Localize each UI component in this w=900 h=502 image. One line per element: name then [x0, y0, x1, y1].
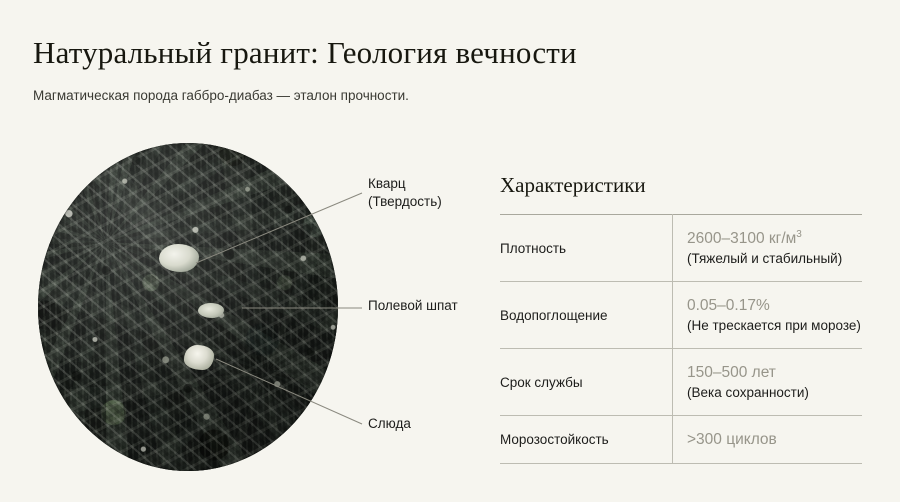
- table-row: Плотность 2600–3100 кг/м3 (Тяжелый и ста…: [500, 215, 862, 282]
- spec-note: (Не трескается при морозе): [687, 316, 862, 335]
- spec-value: 0.05–0.17%: [687, 295, 862, 316]
- table-row: Морозостойкость >300 циклов: [500, 416, 862, 464]
- spec-note: (Века сохранности): [687, 383, 862, 402]
- spec-value-cell: >300 циклов: [673, 416, 863, 464]
- specifications-table: Плотность 2600–3100 кг/м3 (Тяжелый и ста…: [500, 214, 862, 464]
- callout-quartz-sublabel: (Твердость): [368, 193, 442, 211]
- spec-key: Срок службы: [500, 349, 673, 416]
- callout-quartz-label: Кварц: [368, 176, 406, 191]
- infographic-page: Натуральный гранит: Геология вечности Ма…: [0, 0, 900, 502]
- mineral-mica-inclusion: [184, 345, 214, 370]
- spec-value: 2600–3100 кг/м3: [687, 228, 862, 249]
- page-subtitle: Магматическая порода габбро-диабаз — эта…: [33, 72, 733, 105]
- spec-value-cell: 2600–3100 кг/м3 (Тяжелый и стабильный): [673, 215, 863, 282]
- mineral-quartz-inclusion: [159, 244, 199, 272]
- spec-key: Морозостойкость: [500, 416, 673, 464]
- specifications-panel: Характеристики Плотность 2600–3100 кг/м3…: [500, 172, 862, 464]
- callout-feldspar: Полевой шпат: [368, 297, 458, 315]
- spec-value: 150–500 лет: [687, 362, 862, 383]
- granite-disc-image: [38, 143, 338, 471]
- specifications-heading: Характеристики: [500, 172, 862, 198]
- spec-value-cell: 0.05–0.17% (Не трескается при морозе): [673, 282, 863, 349]
- spec-key: Водопоглощение: [500, 282, 673, 349]
- table-row: Водопоглощение 0.05–0.17% (Не трескается…: [500, 282, 862, 349]
- spec-key: Плотность: [500, 215, 673, 282]
- callout-quartz: Кварц (Твердость): [368, 175, 442, 211]
- callout-feldspar-label: Полевой шпат: [368, 298, 458, 313]
- header: Натуральный гранит: Геология вечности Ма…: [33, 34, 733, 105]
- spec-value: >300 циклов: [687, 429, 862, 450]
- spec-note: (Тяжелый и стабильный): [687, 249, 862, 268]
- granite-texture-shading: [38, 143, 338, 471]
- spec-value-cell: 150–500 лет (Века сохранности): [673, 349, 863, 416]
- callout-mica-label: Слюда: [368, 416, 411, 431]
- callout-mica: Слюда: [368, 415, 411, 433]
- page-title: Натуральный гранит: Геология вечности: [33, 34, 733, 72]
- specifications-table-body: Плотность 2600–3100 кг/м3 (Тяжелый и ста…: [500, 215, 862, 464]
- mineral-feldspar-inclusion: [198, 303, 224, 318]
- table-row: Срок службы 150–500 лет (Века сохранност…: [500, 349, 862, 416]
- granite-sample: [38, 143, 338, 471]
